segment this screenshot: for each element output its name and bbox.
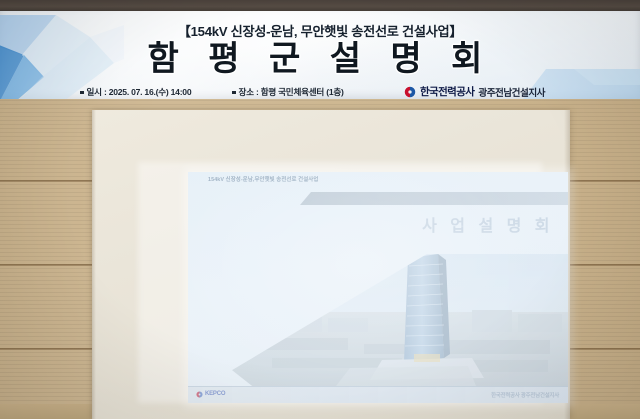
slide-footer-logo-text: KEPCO xyxy=(205,391,225,397)
screenshot-root: 【154kV 신장성-운남, 무안햇빛 송전선로 건설사업】 함 평 군 설 명… xyxy=(0,0,640,419)
slide-footer-kepco-logo: KEPCO xyxy=(196,391,225,398)
banner-kepco-identity: 한국전력공사 광주전남건설지사 xyxy=(404,84,545,99)
projection-screen: 154kV 신장성-운남,무안햇빛 송전선로 건설사업 사 업 설 명 회 xyxy=(92,110,570,419)
kepco-swirl-logo-icon xyxy=(196,391,203,398)
bullet-square-icon xyxy=(232,91,236,95)
lower-wall-right xyxy=(570,404,640,419)
event-banner: 【154kV 신장성-운남, 무안햇빛 송전선로 건설사업】 함 평 군 설 명… xyxy=(0,11,640,99)
banner-main-title: 함 평 군 설 명 회 xyxy=(0,39,640,79)
banner-subtitle: 【154kV 신장성-운남, 무안햇빛 송전선로 건설사업】 xyxy=(0,21,640,40)
kepco-headquarters-building-photo xyxy=(232,254,568,386)
banner-organization: 한국전력공사 xyxy=(420,84,474,99)
slide-titlebar xyxy=(300,192,568,205)
slide-titlebar-text: 154kV 신장성-운남,무안햇빛 송전선로 건설사업 xyxy=(208,175,318,183)
slide-footer-right-text: 한국전력공사 광주전남건설지사 xyxy=(491,391,559,399)
lower-wall-left xyxy=(0,404,92,419)
kepco-swirl-logo-icon xyxy=(404,86,416,98)
banner-venue: 장소 : 함평 국민체육센터 (1층) xyxy=(232,86,344,98)
banner-branch: 광주전남건설지사 xyxy=(478,85,545,99)
banner-datetime: 일시 : 2025. 07. 16.(수) 14:00 xyxy=(80,86,191,98)
slide-footer-bar: KEPCO 한국전력공사 광주전남건설지사 xyxy=(188,386,568,403)
banner-footer-row: 일시 : 2025. 07. 16.(수) 14:00 장소 : 함평 국민체육… xyxy=(0,85,640,99)
bullet-square-icon xyxy=(80,91,84,95)
projected-slide: 154kV 신장성-운남,무안햇빛 송전선로 건설사업 사 업 설 명 회 xyxy=(188,172,568,403)
screen-edge-left xyxy=(92,110,96,419)
slide-heading: 사 업 설 명 회 xyxy=(422,212,554,236)
